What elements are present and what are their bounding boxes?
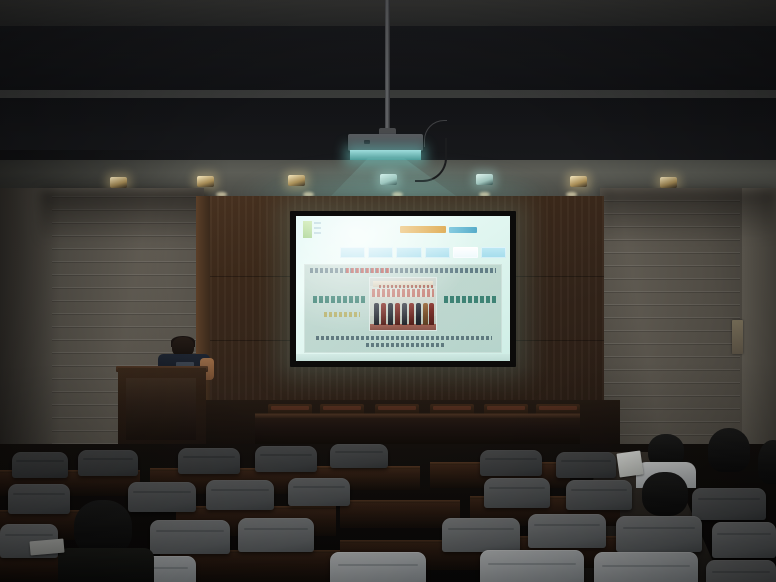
slide-body-line-2 — [366, 343, 444, 347]
audience-person-left-front-shoulders — [58, 548, 154, 582]
seat-r2-6[interactable] — [616, 516, 702, 552]
lecture-hall-photo — [0, 0, 776, 582]
audience-person-right-mid-head — [642, 472, 688, 516]
seat-r3-3[interactable] — [206, 480, 274, 510]
slide-title-suffix — [449, 227, 477, 233]
slide-logo-icon — [303, 221, 312, 238]
slide-tab-1[interactable] — [340, 247, 365, 258]
audience-person-right-edge2-head — [758, 440, 776, 484]
slide-headline — [310, 268, 496, 273]
photo-person-3 — [388, 303, 393, 325]
downlight-3-icon — [288, 175, 305, 186]
audience-person-right-edge-head — [708, 428, 750, 472]
slide-caption-left — [313, 296, 367, 303]
seat-r2-2[interactable] — [150, 520, 230, 554]
seat-r4-7[interactable] — [556, 452, 616, 478]
seat-r4-1[interactable] — [12, 452, 68, 478]
wall-control-panel-icon[interactable] — [732, 320, 743, 354]
slide-tab-6[interactable] — [481, 247, 506, 258]
seat-r4-5[interactable] — [330, 444, 388, 468]
seat-r3-5[interactable] — [484, 478, 550, 508]
seat-r3-4[interactable] — [288, 478, 350, 506]
photo-banner-text — [379, 285, 433, 288]
slide-tab-3[interactable] — [396, 247, 421, 258]
photo-person-2 — [381, 303, 386, 325]
head-table-edge — [255, 414, 580, 418]
photo-person-8 — [423, 303, 428, 325]
seat-r3-6[interactable] — [566, 480, 632, 510]
lectern-front-panel — [126, 378, 196, 440]
head-table — [255, 414, 580, 444]
wall-right-top-shadow — [600, 190, 776, 240]
downlight-2-icon — [197, 176, 214, 187]
seat-r4-3[interactable] — [178, 448, 240, 474]
downlight-5-icon — [476, 174, 493, 185]
seat-r2-4[interactable] — [442, 518, 520, 552]
photo-person-4 — [395, 303, 400, 325]
slide-tab-strip[interactable] — [340, 247, 506, 258]
audience-notes-paper[interactable] — [29, 539, 64, 556]
seat-r2-3[interactable] — [238, 518, 314, 552]
photo-banner-row — [372, 289, 434, 297]
photo-person-5 — [402, 303, 407, 325]
slide-headline-highlight — [346, 268, 390, 273]
projector-drop-pole — [385, 0, 390, 136]
photo-banner — [373, 281, 433, 287]
slide-title — [400, 225, 500, 234]
seat-r1-3[interactable] — [480, 550, 584, 582]
seat-r4-2[interactable] — [78, 450, 138, 476]
downlight-6-icon — [570, 176, 587, 187]
photo-person-1 — [374, 303, 379, 325]
slide-title-main — [400, 226, 446, 233]
seat-r3-7[interactable] — [692, 488, 766, 520]
photo-person-9 — [429, 303, 434, 325]
seat-r2-7[interactable] — [712, 522, 776, 558]
downlight-1-icon — [110, 177, 127, 188]
wall-left-top-shadow — [40, 190, 210, 244]
seat-r4-4[interactable] — [255, 446, 317, 472]
slide-logo-text-block — [314, 222, 321, 237]
slide-content-panel — [304, 264, 502, 353]
audience-handout-paper[interactable] — [616, 450, 643, 477]
slide-tab-4[interactable] — [425, 247, 450, 258]
projector-indicator-icon — [364, 140, 370, 144]
photo-person-6 — [409, 303, 414, 325]
seat-r1-2[interactable] — [330, 552, 426, 582]
slide-tab-5-active[interactable] — [453, 247, 478, 258]
seat-r1-5[interactable] — [706, 560, 776, 582]
photo-person-7 — [416, 303, 421, 325]
slide-caption-right — [444, 296, 496, 303]
slide-footer-bar — [296, 354, 510, 361]
downlight-7-icon — [660, 177, 677, 188]
seat-r1-4[interactable] — [594, 552, 698, 582]
slide-group-photo — [370, 278, 436, 330]
projector-body — [348, 134, 423, 151]
seat-r4-6[interactable] — [480, 450, 542, 476]
slide-body-line-1 — [316, 336, 492, 340]
seat-r3-2[interactable] — [128, 482, 196, 512]
projection-screen[interactable] — [296, 216, 510, 361]
slide-tab-2[interactable] — [368, 247, 393, 258]
seat-r3-1[interactable] — [8, 484, 70, 514]
slide-caption-left-sub — [324, 312, 360, 317]
seat-r2-5[interactable] — [528, 514, 606, 548]
